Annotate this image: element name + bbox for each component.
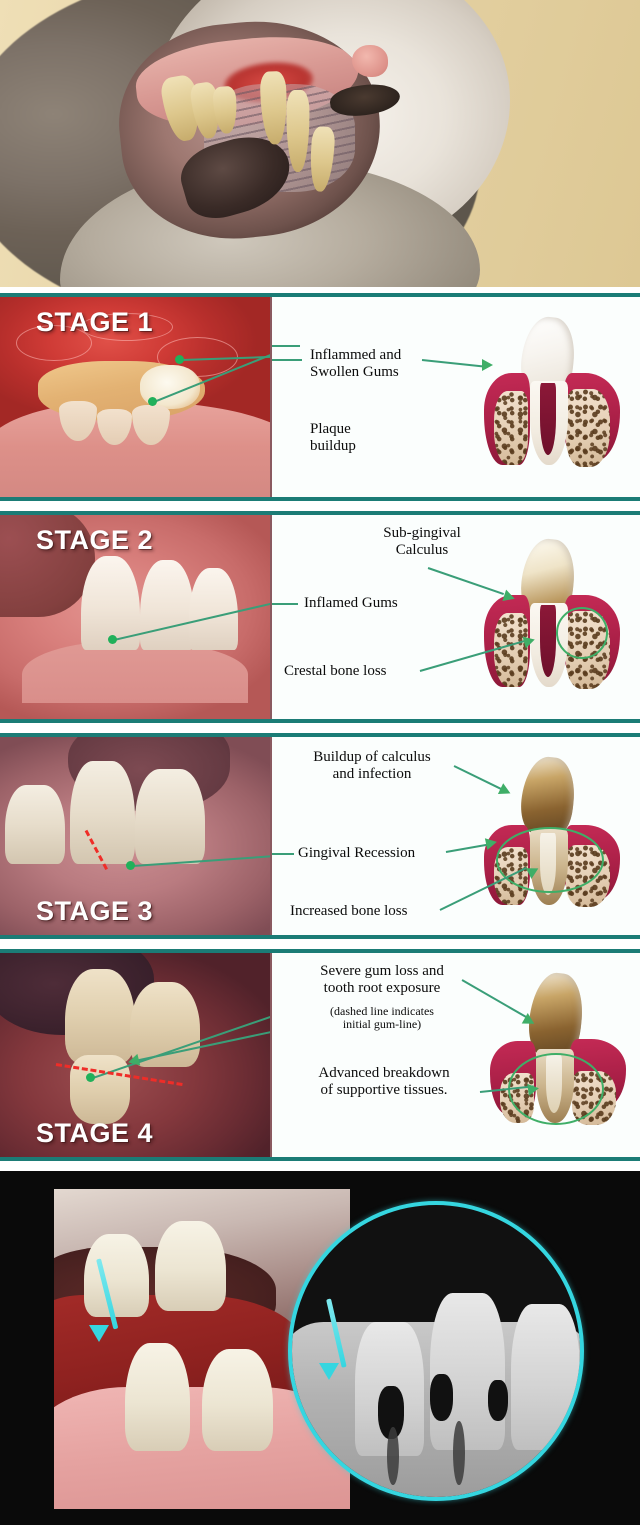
tooth-xray — [430, 1293, 505, 1451]
stage-4-info: Severe gum loss and tooth root exposure … — [272, 953, 640, 1157]
annotation-severe-gum-loss: Severe gum loss and tooth root exposure — [282, 963, 482, 997]
stage-1-photo: STAGE 1 — [0, 297, 272, 497]
tissue-breakdown-highlight-circle — [508, 1053, 604, 1125]
tooth-cross-section-stage-3 — [478, 751, 626, 919]
cat-nose — [352, 45, 388, 77]
xray-comparison-panel — [0, 1171, 640, 1525]
alveolar-bone-left — [494, 613, 528, 687]
annotation-dashed-line-note: (dashed line indicates initial gum-line) — [286, 1005, 478, 1031]
stage-2-panel: STAGE 2 Sub-gingival Calculus Inflamed G… — [0, 511, 640, 723]
bone-loss-defect — [488, 1380, 508, 1421]
inflamed-gums-callout-dot — [108, 635, 117, 644]
tooth — [202, 1349, 273, 1451]
pulp-canal — [540, 605, 556, 677]
plaque-callout-dot — [148, 397, 157, 406]
arrowhead-icon — [482, 359, 493, 371]
stage-2-info: Sub-gingival Calculus Inflamed Gums Cres… — [272, 515, 640, 719]
stage-3-info: Buildup of calculus and infection Gingiv… — [272, 737, 640, 935]
tooth — [135, 769, 205, 864]
annotation-increased-bone-loss: Increased bone loss — [290, 903, 407, 920]
alveolar-bone-right — [566, 389, 610, 467]
tooth — [140, 560, 194, 650]
annotation-gingival-recession: Gingival Recession — [298, 845, 415, 862]
bone-loss-defect — [430, 1374, 453, 1421]
pulp-canal — [540, 383, 556, 455]
root-canal-shadow — [453, 1421, 465, 1485]
arrowhead-icon — [527, 1082, 540, 1095]
cyan-pointer-arrow-head-icon — [89, 1325, 109, 1342]
cyan-pointer-arrow-head-icon — [319, 1363, 339, 1380]
bone-loss-highlight-circle — [556, 607, 608, 659]
bone-loss-highlight-circle — [496, 827, 604, 893]
gum-callout-dot — [175, 355, 184, 364]
stage-3-badge: STAGE 3 — [36, 896, 153, 927]
leader-line — [272, 603, 298, 605]
gum-margin — [22, 641, 249, 702]
leader-line — [272, 853, 294, 855]
stage-4-photo: STAGE 4 — [0, 953, 272, 1157]
annotation-buildup-of-calculus: Buildup of calculus and infection — [282, 749, 462, 783]
tooth — [65, 969, 135, 1063]
leader-line-to-diagram — [422, 359, 484, 368]
tooth — [70, 761, 135, 864]
stage-3-photo: STAGE 3 — [0, 737, 272, 935]
root-canal-shadow — [387, 1427, 399, 1485]
tooth-xray — [511, 1304, 580, 1450]
root-exposure-callout-dot — [86, 1073, 95, 1082]
tooth — [155, 1221, 226, 1311]
stage-2-badge: STAGE 2 — [36, 525, 153, 556]
tooth — [189, 568, 238, 650]
stage-1-panel: STAGE 1 Inflammed and Swollen Gums Plaqu… — [0, 293, 640, 501]
recession-callout-dot — [126, 861, 135, 870]
annotation-sub-gingival-calculus: Sub-gingival Calculus — [342, 525, 502, 559]
tooth — [125, 1343, 190, 1452]
alveolar-bone-left — [494, 391, 528, 465]
tooth-cross-section-stage-4 — [484, 969, 632, 1137]
stage-1-info: Inflammed and Swollen Gums Plaque buildu… — [272, 297, 640, 497]
annotation-plaque-buildup: Plaque buildup — [310, 421, 356, 455]
periodontal-disease-stages-infographic: STAGE 1 Inflammed and Swollen Gums Plaqu… — [0, 0, 640, 1525]
leader-line — [272, 359, 302, 361]
stage-4-panel: STAGE 4 Severe gum loss and tooth root e… — [0, 949, 640, 1161]
annotation-inflamed-gums: Inflamed Gums — [304, 595, 398, 612]
stage-4-badge: STAGE 4 — [36, 1118, 153, 1149]
annotation-advanced-breakdown: Advanced breakdown of supportive tissues… — [278, 1065, 490, 1099]
stage-3-panel: STAGE 3 Buildup of calculus and infectio… — [0, 733, 640, 939]
cat-mouth-photo — [0, 0, 640, 287]
leader-line — [272, 345, 300, 347]
arrowhead-icon — [485, 836, 498, 850]
stage-1-badge: STAGE 1 — [36, 307, 153, 338]
tooth-cross-section-stage-1 — [478, 311, 626, 479]
tooth — [84, 1234, 149, 1317]
exposed-tooth-root — [70, 1055, 129, 1124]
annotation-inflamed-swollen-gums: Inflammed and Swollen Gums — [310, 347, 401, 381]
annotation-crestal-bone-loss: Crestal bone loss — [284, 663, 387, 680]
tooth — [5, 785, 64, 864]
dental-radiograph-inset — [288, 1201, 584, 1501]
stage-2-photo: STAGE 2 — [0, 515, 272, 719]
